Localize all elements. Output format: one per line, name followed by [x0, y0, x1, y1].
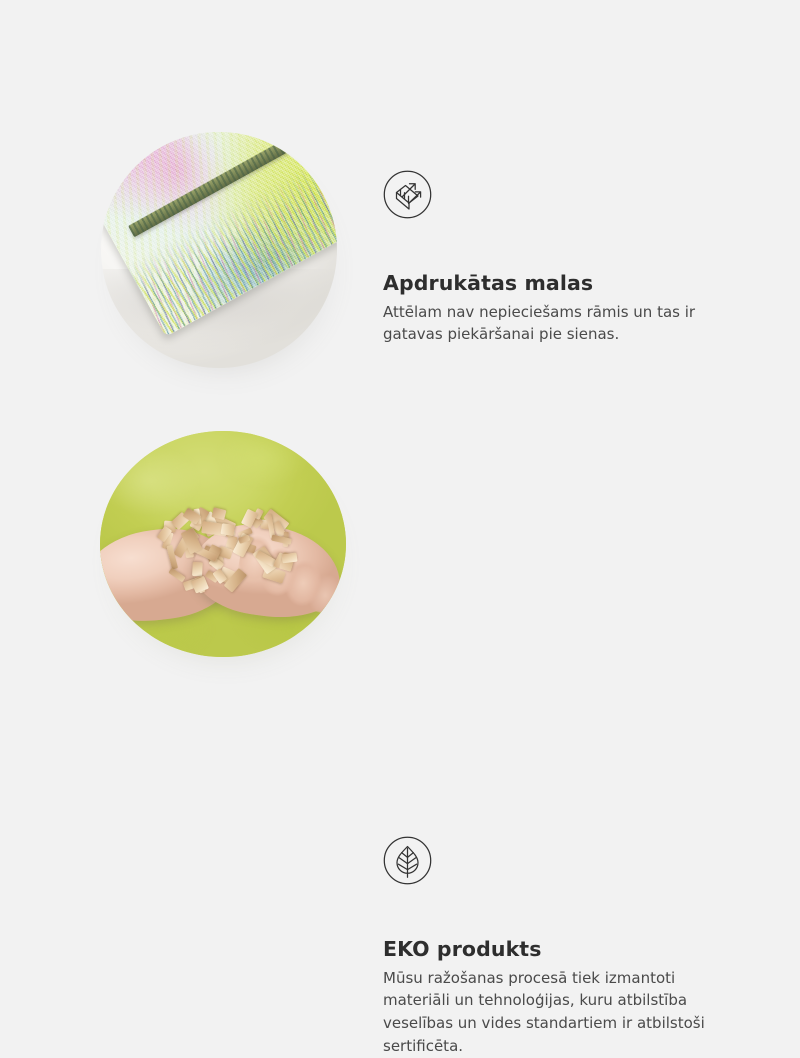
- leaf-icon: [383, 836, 432, 885]
- wood-chip: [168, 567, 186, 582]
- feature-text-printed-edges: Apdrukātas malas Attēlam nav nepieciešam…: [383, 170, 753, 346]
- feature-description-eco-product: Mūsu ražošanas procesā tiek izmantoti ma…: [383, 967, 735, 1058]
- wood-chips-pile: [157, 502, 299, 590]
- feature-block-eco-product: EKO produkts Mūsu ražošanas procesā tiek…: [0, 400, 800, 800]
- feature-title-eco-product: EKO produkts: [383, 937, 753, 962]
- canvas-wrapped-edge-icon: [383, 170, 432, 219]
- feature-text-eco-product: EKO produkts Mūsu ražošanas procesā tiek…: [383, 836, 753, 1058]
- wood-chip: [281, 552, 297, 563]
- wood-chip: [220, 523, 234, 536]
- feature-block-printed-edges: Apdrukātas malas Attēlam nav nepieciešam…: [0, 0, 800, 400]
- feature-description-printed-edges: Attēlam nav nepieciešams rāmis un tas ir…: [383, 301, 735, 347]
- feature-title-printed-edges: Apdrukātas malas: [383, 271, 753, 296]
- hands-holding-wood-chips-photo: [100, 431, 346, 657]
- wood-chip: [191, 562, 202, 576]
- product-feature-page: Apdrukātas malas Attēlam nav nepieciešam…: [0, 0, 800, 800]
- canvas-print-corner-photo: [101, 132, 337, 368]
